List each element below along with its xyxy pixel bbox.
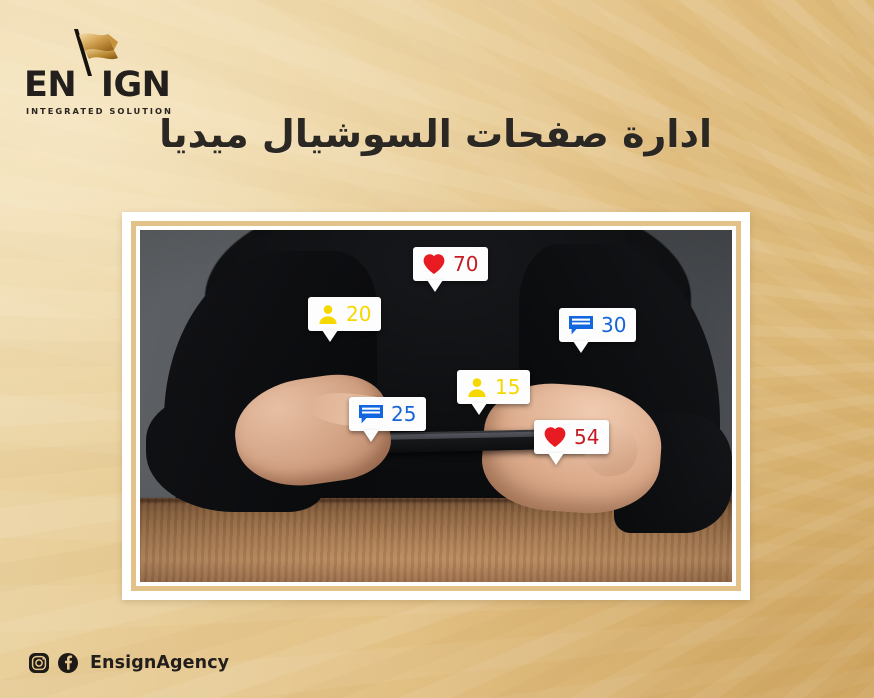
facebook-icon[interactable] [57, 652, 79, 674]
photo-frame-inner: 702030251554 [136, 226, 736, 586]
notification-count: 70 [453, 254, 478, 274]
notification-bubble-comment-30: 30 [559, 308, 636, 342]
notification-count: 15 [495, 377, 520, 397]
social-footer: EnsignAgency [28, 652, 229, 674]
photo-frame-gap: 702030251554 [131, 221, 741, 591]
social-handle[interactable]: EnsignAgency [90, 653, 229, 673]
notification-bubble-person-15: 15 [457, 370, 530, 404]
person-icon [466, 376, 488, 398]
notification-bubble-heart-70: 70 [413, 247, 488, 281]
logo-tagline: INTEGRATED SOLUTION [26, 106, 173, 116]
comment-icon [358, 403, 384, 425]
comment-icon [568, 314, 594, 336]
notification-bubble-person-20: 20 [308, 297, 381, 331]
notification-count: 30 [601, 315, 626, 335]
hero-photo: 702030251554 [140, 230, 732, 582]
notification-bubble-heart-54: 54 [534, 420, 609, 454]
poster-canvas: ENSIGN INTEGRATED SOLUTION ادارة صفحات ا… [0, 0, 874, 698]
logo-word-part2: IGN [101, 65, 171, 105]
instagram-icon[interactable] [28, 652, 50, 674]
notification-count: 20 [346, 304, 371, 324]
brand-logo: ENSIGN INTEGRATED SOLUTION [24, 28, 154, 108]
photo-frame: 702030251554 [122, 212, 750, 600]
logo-wordmark: ENSIGN [24, 68, 170, 103]
heart-icon [422, 253, 446, 275]
person-icon [317, 303, 339, 325]
notification-count: 54 [574, 427, 599, 447]
page-title: ادارة صفحات السوشيال ميديا [159, 112, 712, 156]
notification-count: 25 [391, 404, 416, 424]
heart-icon [543, 426, 567, 448]
logo-word-part1: EN [24, 65, 76, 105]
notification-bubble-comment-25: 25 [349, 397, 426, 431]
